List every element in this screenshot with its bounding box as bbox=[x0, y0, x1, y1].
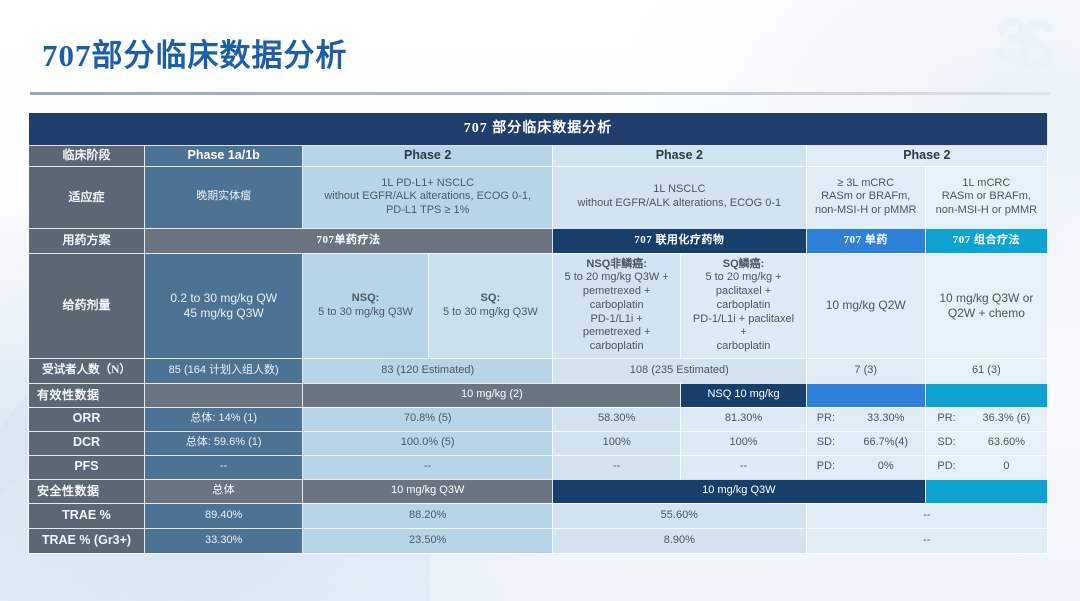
efficacy-header-p1 bbox=[144, 383, 302, 407]
row-dose: 给药剂量 0.2 to 30 mg/kg QW 45 mg/kg Q3W NSQ… bbox=[29, 253, 1048, 358]
table-title-row: 707 部分临床数据分析 bbox=[29, 113, 1048, 146]
row-label-indication: 适应症 bbox=[29, 166, 145, 228]
table-title: 707 部分临床数据分析 bbox=[29, 113, 1048, 146]
orr-sq: 81.30% bbox=[681, 407, 806, 431]
dose-nsq-combo-title: NSQ非鳞癌: bbox=[556, 258, 677, 272]
pfs-nsq: -- bbox=[552, 455, 680, 479]
row-trae: TRAE % 89.40% 88.20% 55.60% -- bbox=[29, 503, 1048, 528]
pfs-mcrc-2: PD:0 bbox=[925, 455, 1047, 479]
phase-1a1b: Phase 1a/1b bbox=[144, 146, 302, 167]
dcr-p1: 总体: 59.6% (1) bbox=[144, 431, 302, 455]
dose-sq-combo-title: SQ鳞癌: bbox=[684, 258, 802, 272]
row-label-safety: 安全性数据 bbox=[29, 479, 145, 503]
trae-p2b: 55.60% bbox=[552, 503, 806, 528]
trae-p1: 89.40% bbox=[144, 503, 302, 528]
row-label-efficacy: 有效性数据 bbox=[29, 383, 145, 407]
orr-p2a: 70.8% (5) bbox=[303, 407, 553, 431]
row-label-stage: 临床阶段 bbox=[29, 146, 145, 167]
row-label-n: 受试者人数（N） bbox=[29, 358, 145, 383]
trae-gr3-p2c: -- bbox=[806, 528, 1047, 553]
row-label-regimen: 用药方案 bbox=[29, 228, 145, 253]
row-subjects-n: 受试者人数（N） 85 (164 计划入组人数) 83 (120 Estimat… bbox=[29, 358, 1048, 383]
dose-sq-combo-body: 5 to 20 mg/kg + paclitaxel + carboplatin… bbox=[684, 271, 802, 354]
dose-nsq-title: NSQ: bbox=[306, 292, 424, 306]
dose-p1: 0.2 to 30 mg/kg QW 45 mg/kg Q3W bbox=[144, 253, 302, 358]
orr-mcrc-1: PR:33.30% bbox=[806, 407, 925, 431]
regimen-combination: 707 组合疗法 bbox=[925, 228, 1047, 253]
row-dcr: DCR 总体: 59.6% (1) 100.0% (5) 100% 100% S… bbox=[29, 431, 1048, 455]
row-label-dcr: DCR bbox=[29, 431, 145, 455]
row-label-trae-gr3: TRAE % (Gr3+) bbox=[29, 528, 145, 553]
dose-mcrc-1: 10 mg/kg Q2W bbox=[806, 253, 925, 358]
efficacy-header-p2a: 10 mg/kg (2) bbox=[303, 383, 681, 407]
pfs-sq: -- bbox=[681, 455, 806, 479]
page-title: 707部分临床数据分析 bbox=[42, 30, 348, 75]
pfs-p2a: -- bbox=[303, 455, 553, 479]
title-divider bbox=[30, 92, 1050, 95]
dcr-p2a: 100.0% (5) bbox=[303, 431, 553, 455]
company-logo-icon bbox=[978, 6, 1070, 92]
dcr-nsq: 100% bbox=[552, 431, 680, 455]
dose-sq-combo: SQ鳞癌: 5 to 20 mg/kg + paclitaxel + carbo… bbox=[681, 253, 806, 358]
pfs-mcrc2-key: PD: bbox=[937, 460, 963, 474]
phase-2-group-b: Phase 2 bbox=[552, 146, 806, 167]
row-label-trae: TRAE % bbox=[29, 503, 145, 528]
row-clinical-stage: 临床阶段 Phase 1a/1b Phase 2 Phase 2 Phase 2 bbox=[29, 146, 1048, 167]
row-safety-header: 安全性数据 总体 10 mg/kg Q3W 10 mg/kg Q3W bbox=[29, 479, 1048, 503]
row-regimen: 用药方案 707单药疗法 707 联用化疗药物 707 单药 707 组合疗法 bbox=[29, 228, 1048, 253]
pfs-mcrc2-value: 0 bbox=[977, 460, 1035, 474]
row-pfs: PFS -- -- -- -- PD:0% PD:0 bbox=[29, 455, 1048, 479]
phase-2-group-a: Phase 2 bbox=[303, 146, 553, 167]
dose-nsq-combo-body: 5 to 20 mg/kg Q3W + pemetrexed + carbopl… bbox=[556, 271, 677, 354]
dcr-mcrc-1: SD:66.7%(4) bbox=[806, 431, 925, 455]
row-orr: ORR 总体: 14% (1) 70.8% (5) 58.30% 81.30% … bbox=[29, 407, 1048, 431]
safety-header-p2a: 10 mg/kg Q3W bbox=[303, 479, 553, 503]
row-label-dose: 给药剂量 bbox=[29, 253, 145, 358]
dose-mcrc-2: 10 mg/kg Q3W or Q2W + chemo bbox=[925, 253, 1047, 358]
n-p2c-1: 7 (3) bbox=[806, 358, 925, 383]
row-trae-gr3: TRAE % (Gr3+) 33.30% 23.50% 8.90% -- bbox=[29, 528, 1048, 553]
regimen-mono-2: 707 单药 bbox=[806, 228, 925, 253]
row-indication: 适应症 晚期实体瘤 1L PD-L1+ NSCLC without EGFR/A… bbox=[29, 166, 1048, 228]
pfs-p1: -- bbox=[144, 455, 302, 479]
efficacy-header-mcrc1 bbox=[806, 383, 925, 407]
dose-nsq-body: 5 to 30 mg/kg Q3W bbox=[306, 306, 424, 320]
safety-header-p1: 总体 bbox=[144, 479, 302, 503]
trae-p2c: -- bbox=[806, 503, 1047, 528]
dcr-mcrc1-value: 66.7%(4) bbox=[857, 436, 915, 450]
dose-nsq-combo: NSQ非鳞癌: 5 to 20 mg/kg Q3W + pemetrexed +… bbox=[552, 253, 680, 358]
trae-gr3-p2b: 8.90% bbox=[552, 528, 806, 553]
orr-nsq: 58.30% bbox=[552, 407, 680, 431]
indication-p1: 晚期实体瘤 bbox=[144, 166, 302, 228]
orr-mcrc2-key: PR: bbox=[937, 412, 963, 426]
trae-gr3-p1: 33.30% bbox=[144, 528, 302, 553]
n-p2c-2: 61 (3) bbox=[925, 358, 1047, 383]
regimen-combo-chemo: 707 联用化疗药物 bbox=[552, 228, 806, 253]
dcr-mcrc-2: SD:63.60% bbox=[925, 431, 1047, 455]
orr-p1: 总体: 14% (1) bbox=[144, 407, 302, 431]
orr-mcrc2-value: 36.3% (6) bbox=[977, 412, 1035, 426]
orr-mcrc1-key: PR: bbox=[817, 412, 843, 426]
dose-sq-body: 5 to 30 mg/kg Q3W bbox=[432, 306, 549, 320]
regimen-monotherapy: 707单药疗法 bbox=[144, 228, 552, 253]
dcr-mcrc2-key: SD: bbox=[937, 436, 963, 450]
trae-gr3-p2a: 23.50% bbox=[303, 528, 553, 553]
safety-header-mcrc2 bbox=[925, 479, 1047, 503]
dcr-mcrc2-value: 63.60% bbox=[977, 436, 1035, 450]
efficacy-header-mcrc2 bbox=[925, 383, 1047, 407]
dose-nsq: NSQ: 5 to 30 mg/kg Q3W bbox=[303, 253, 428, 358]
dose-sq: SQ: 5 to 30 mg/kg Q3W bbox=[428, 253, 552, 358]
n-p2b: 108 (235 Estimated) bbox=[552, 358, 806, 383]
n-p1: 85 (164 计划入组人数) bbox=[144, 358, 302, 383]
indication-p2b: 1L NSCLC without EGFR/ALK alterations, E… bbox=[552, 166, 806, 228]
clinical-data-table: 707 部分临床数据分析 临床阶段 Phase 1a/1b Phase 2 Ph… bbox=[28, 112, 1048, 554]
orr-mcrc-2: PR:36.3% (6) bbox=[925, 407, 1047, 431]
pfs-mcrc1-key: PD: bbox=[817, 460, 843, 474]
row-efficacy-header: 有效性数据 10 mg/kg (2) NSQ 10 mg/kg bbox=[29, 383, 1048, 407]
phase-2-group-c: Phase 2 bbox=[806, 146, 1047, 167]
n-p2a: 83 (120 Estimated) bbox=[303, 358, 553, 383]
dose-sq-title: SQ: bbox=[432, 292, 549, 306]
pfs-mcrc1-value: 0% bbox=[857, 460, 915, 474]
pfs-mcrc-1: PD:0% bbox=[806, 455, 925, 479]
row-label-orr: ORR bbox=[29, 407, 145, 431]
row-label-pfs: PFS bbox=[29, 455, 145, 479]
dcr-mcrc1-key: SD: bbox=[817, 436, 843, 450]
trae-p2a: 88.20% bbox=[303, 503, 553, 528]
orr-mcrc1-value: 33.30% bbox=[857, 412, 915, 426]
efficacy-header-nsq: NSQ 10 mg/kg bbox=[681, 383, 806, 407]
dcr-sq: 100% bbox=[681, 431, 806, 455]
indication-p2a: 1L PD-L1+ NSCLC without EGFR/ALK alterat… bbox=[303, 166, 553, 228]
indication-p2c-1: ≥ 3L mCRC RASm or BRAFm, non-MSI-H or pM… bbox=[806, 166, 925, 228]
safety-header-p2b: 10 mg/kg Q3W bbox=[552, 479, 925, 503]
indication-p2c-2: 1L mCRC RASm or BRAFm, non-MSI-H or pMMR bbox=[925, 166, 1047, 228]
